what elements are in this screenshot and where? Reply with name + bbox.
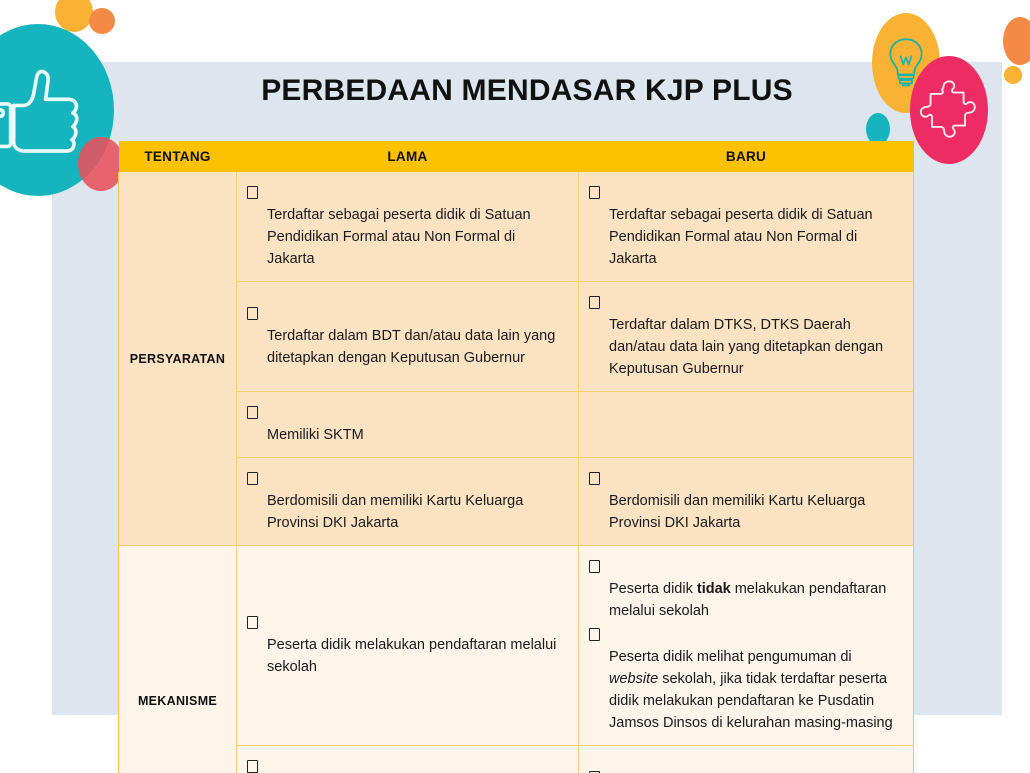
decor-dot-orange-large — [1003, 17, 1030, 65]
slide-root: PERBEDAAN MENDASAR KJP PLUS TENTANG LAMA… — [0, 0, 1030, 773]
checklist: Terdaftar dalam BDT dan/atau data lain y… — [247, 303, 566, 369]
cell-baru: Berdomisili dan memiliki Kartu Keluarga … — [579, 458, 914, 546]
checklist: Terdaftar sebagai peserta didik di Satua… — [247, 182, 566, 270]
column-header-baru: BARU — [579, 141, 914, 172]
puzzle-piece-icon — [910, 56, 988, 164]
page-title: PERBEDAAN MENDASAR KJP PLUS — [52, 74, 1002, 108]
cell-lama: Berdomisili dan memiliki Kartu Keluarga … — [237, 458, 579, 546]
checkbox-icon — [247, 186, 258, 199]
checklist: Terdaftar sebagai peserta didik di Satua… — [589, 182, 901, 270]
cell-lama: Memiliki SKTM — [237, 392, 579, 458]
checklist: Berdomisili dan memiliki Kartu Keluarga … — [247, 468, 566, 534]
checkbox-icon — [247, 616, 258, 629]
list-item-text: Berdomisili dan memiliki Kartu Keluarga … — [609, 490, 901, 534]
checklist: Memiliki SKTM — [247, 402, 566, 446]
column-header-tentang: TENTANG — [119, 141, 237, 172]
checklist: Terdaftar dalam DTKS, DTKS Daerah dan/at… — [589, 292, 901, 380]
checklist: Peserta didik tidak melakukan pendaftara… — [589, 556, 901, 733]
list-item: Memiliki SKTM — [247, 402, 566, 446]
list-item: Berdomisili dan memiliki Kartu Keluarga … — [589, 468, 901, 534]
list-item: Peserta didik melihat pengumuman di webs… — [589, 624, 901, 734]
list-item-text: Terdaftar sebagai peserta didik di Satua… — [609, 204, 901, 270]
list-item: Terdaftar sebagai peserta didik di Satua… — [247, 182, 566, 270]
list-item: Berdomisili dan memiliki Kartu Keluarga … — [247, 468, 566, 534]
cell-lama: Sekolah melakukan verifikasi ke rumah pe… — [237, 745, 579, 773]
cell-lama: Terdaftar sebagai peserta didik di Satua… — [237, 172, 579, 282]
table-row: Sekolah melakukan verifikasi ke rumah pe… — [119, 745, 914, 773]
checklist: Berdomisili dan memiliki Kartu Keluarga … — [589, 468, 901, 534]
section-label-persyaratan: PERSYARATAN — [119, 172, 237, 546]
checkbox-icon — [589, 560, 600, 573]
checkbox-icon — [247, 472, 258, 485]
cell-baru: Kelayakan penerima didasarkan data Pusda… — [579, 745, 914, 773]
comparison-table: TENTANG LAMA BARU PERSYARATAN Terdaftar … — [118, 141, 914, 773]
checkbox-icon — [589, 296, 600, 309]
cell-lama: Peserta didik melakukan pendaftaran mela… — [237, 546, 579, 745]
checklist: Sekolah melakukan verifikasi ke rumah pe… — [247, 756, 566, 773]
checkbox-icon — [589, 472, 600, 485]
list-item-text: Memiliki SKTM — [267, 424, 566, 446]
checkbox-icon — [589, 186, 600, 199]
cell-baru: Peserta didik tidak melakukan pendaftara… — [579, 546, 914, 745]
checklist: Kelayakan penerima didasarkan data Pusda… — [589, 767, 901, 773]
table-row: PERSYARATAN Terdaftar sebagai peserta di… — [119, 172, 914, 282]
table-header-row: TENTANG LAMA BARU — [119, 141, 914, 172]
list-item: Terdaftar dalam BDT dan/atau data lain y… — [247, 303, 566, 369]
list-item: Terdaftar sebagai peserta didik di Satua… — [589, 182, 901, 270]
list-item-text: Terdaftar dalam DTKS, DTKS Daerah dan/at… — [609, 314, 901, 380]
cell-lama: Terdaftar dalam BDT dan/atau data lain y… — [237, 282, 579, 392]
table-row: MEKANISME Peserta didik melakukan pendaf… — [119, 546, 914, 745]
checkbox-icon — [247, 760, 258, 773]
list-item: Sekolah melakukan verifikasi ke rumah pe… — [247, 756, 566, 773]
list-item: Peserta didik tidak melakukan pendaftara… — [589, 556, 901, 622]
decor-dot-yellow-small — [1004, 66, 1022, 84]
list-item-text: Peserta didik tidak melakukan pendaftara… — [609, 578, 901, 622]
table-row: Berdomisili dan memiliki Kartu Keluarga … — [119, 458, 914, 546]
checkbox-icon — [247, 406, 258, 419]
table-row: Memiliki SKTM — [119, 392, 914, 458]
cell-baru-empty — [579, 392, 914, 458]
list-item: Terdaftar dalam DTKS, DTKS Daerah dan/at… — [589, 292, 901, 380]
list-item: Peserta didik melakukan pendaftaran mela… — [247, 612, 566, 678]
table-row: Terdaftar dalam BDT dan/atau data lain y… — [119, 282, 914, 392]
checkbox-icon — [247, 307, 258, 320]
list-item-text: Peserta didik melihat pengumuman di webs… — [609, 646, 901, 734]
checkbox-icon — [589, 628, 600, 641]
list-item-text: Terdaftar sebagai peserta didik di Satua… — [267, 204, 566, 270]
cell-baru: Terdaftar sebagai peserta didik di Satua… — [579, 172, 914, 282]
section-label-mekanisme: MEKANISME — [119, 546, 237, 773]
list-item-text: Terdaftar dalam BDT dan/atau data lain y… — [267, 325, 566, 369]
checklist: Peserta didik melakukan pendaftaran mela… — [247, 612, 566, 678]
list-item-text: Berdomisili dan memiliki Kartu Keluarga … — [267, 490, 566, 534]
cell-baru: Terdaftar dalam DTKS, DTKS Daerah dan/at… — [579, 282, 914, 392]
list-item: Kelayakan penerima didasarkan data Pusda… — [589, 767, 901, 773]
column-header-lama: LAMA — [237, 141, 579, 172]
list-item-text: Peserta didik melakukan pendaftaran mela… — [267, 634, 566, 678]
